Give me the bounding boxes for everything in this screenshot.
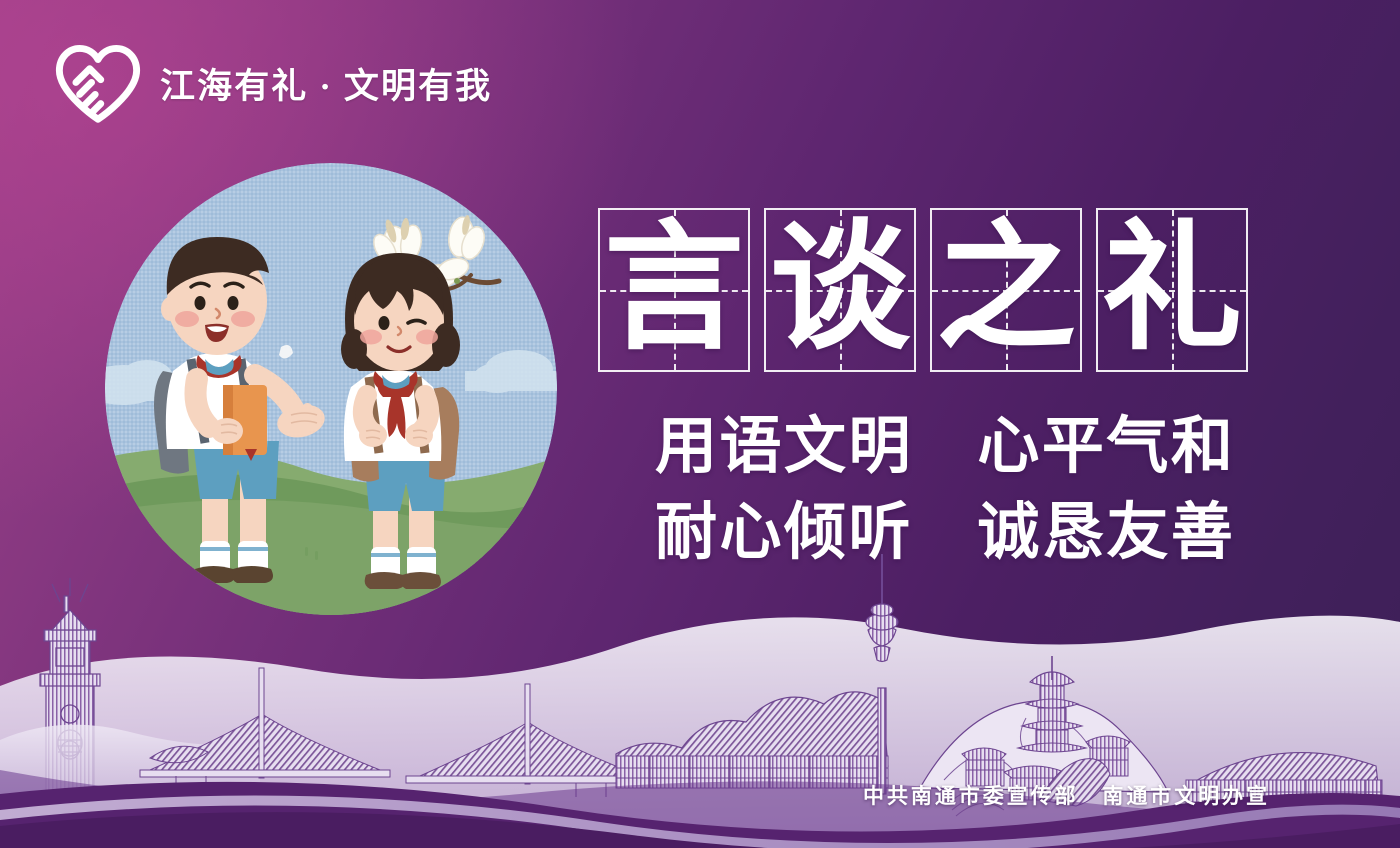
brand-lockup: 江海有礼 · 文明有我 [52,42,492,124]
headline-cell-2: 谈 [764,208,916,372]
brand-slogan: 江海有礼 · 文明有我 [160,58,492,109]
headline-character: 之 [932,210,1080,370]
headline-cell-4: 礼 [1096,208,1248,372]
headline-cell-3: 之 [930,208,1082,372]
headline-character: 礼 [1098,210,1246,370]
headline-character-grid: 言 谈 之 礼 [598,208,1248,372]
headline-character: 谈 [766,210,914,370]
poster-canvas: 江海有礼 · 文明有我 [0,0,1400,848]
headline-cell-1: 言 [598,208,750,372]
heart-handshake-icon [52,42,144,124]
footer-credit: 中共南通市委宣传部 南通市文明办宣 [863,780,1270,810]
headline-character: 言 [600,210,748,370]
subtitle-line-1: 用语文明 心平气和 [655,404,1235,490]
